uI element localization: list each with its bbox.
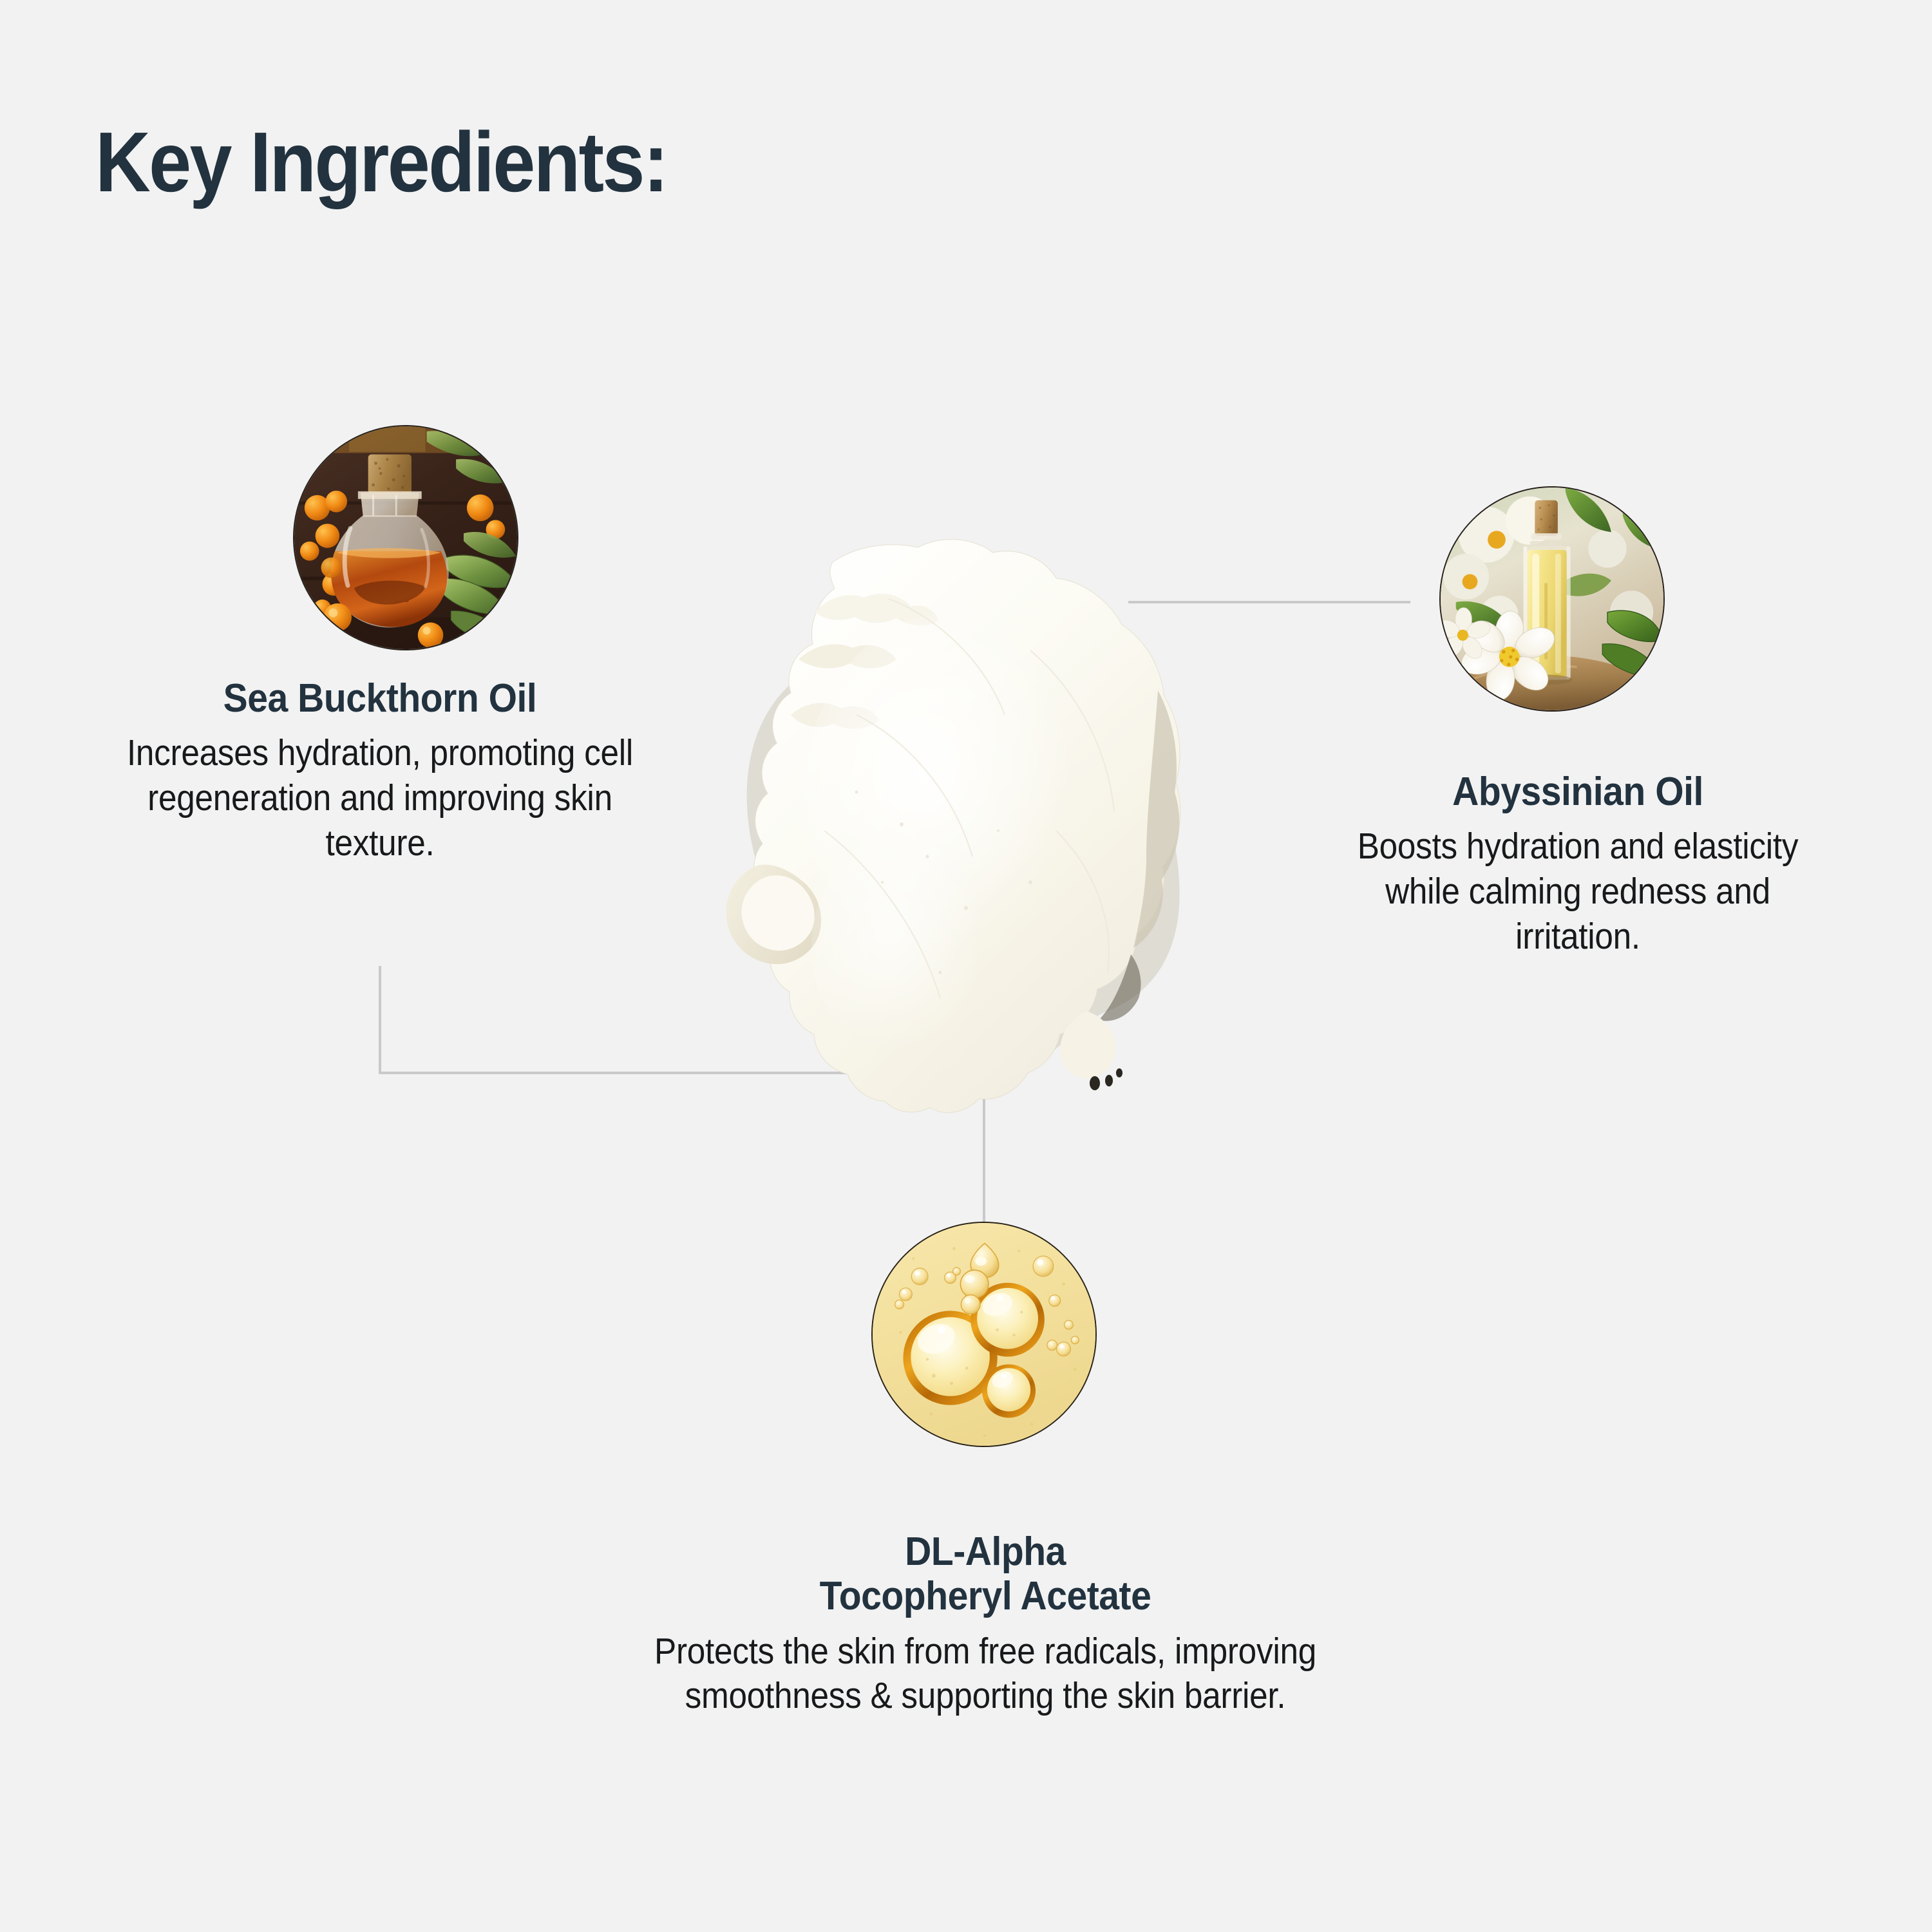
ingredient-description-dl-alpha-tocopheryl-acetate: Protects the skin from free radicals, im… [649,1629,1321,1719]
body-butter-cream-swatch [696,522,1236,1121]
ingredient-name-abyssinian-oil: Abyssinian Oil [1344,770,1812,814]
ingredient-image-sea-buckthorn-oil [293,425,518,650]
ingredient-name-dl-alpha-tocopheryl-acetate: DL-Alpha Tocopheryl Acetate [641,1529,1329,1619]
ingredient-description-sea-buckthorn-oil: Increases hydration, promoting cell rege… [125,731,635,866]
infographic-canvas: Key Ingredients: [0,0,1932,1932]
ingredient-name-line-1: DL-Alpha [905,1529,1066,1574]
ingredient-block-abyssinian-oil: Abyssinian Oil Boosts hydration and elas… [1323,770,1832,959]
ingredient-name-sea-buckthorn-oil: Sea Buckthorn Oil [119,676,641,721]
ingredient-block-sea-buckthorn-oil: Sea Buckthorn Oil Increases hydration, p… [97,676,663,866]
ingredient-image-dl-alpha-tocopheryl-acetate [871,1222,1097,1447]
connector-line-sea-buckthorn-vertical [379,966,381,1074]
ingredient-description-abyssinian-oil: Boosts hydration and elasticity while ca… [1349,824,1807,959]
ingredient-image-abyssinian-oil [1439,486,1665,712]
page-title: Key Ingredients: [95,120,667,205]
ingredient-block-dl-alpha-tocopheryl-acetate: DL-Alpha Tocopheryl Acetate Protects the… [612,1529,1359,1719]
ingredient-name-line-2: Tocopheryl Acetate [820,1574,1151,1618]
